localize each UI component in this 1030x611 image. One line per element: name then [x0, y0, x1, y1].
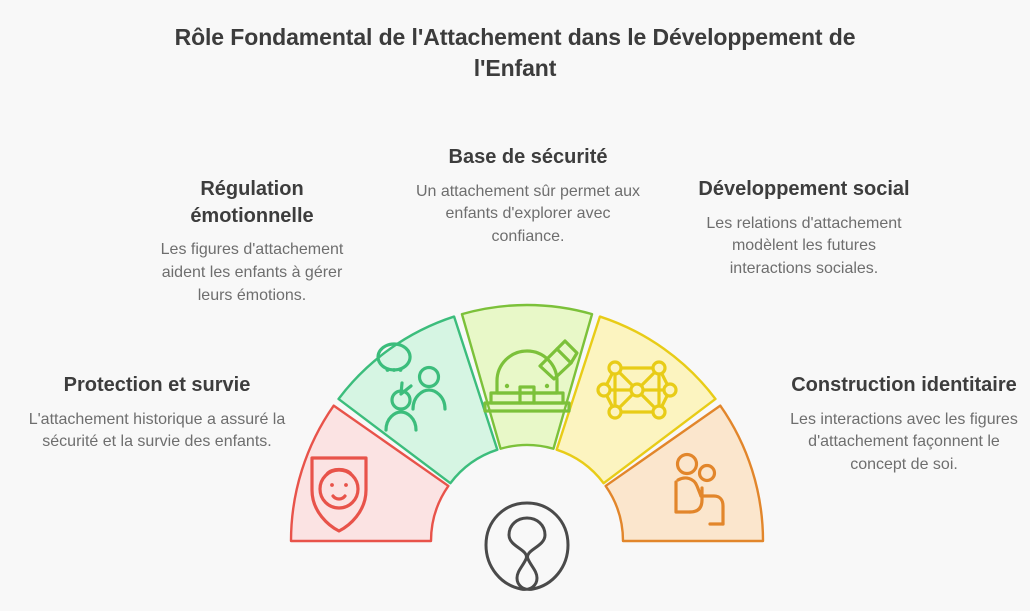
- omega-logo-icon: [486, 503, 568, 589]
- node-social-title: Développement social: [690, 176, 918, 203]
- node-social-description: Les relations d'attachement modèlent les…: [690, 213, 918, 281]
- node-protection-title: Protection et survie: [28, 372, 286, 399]
- infographic-canvas: Rôle Fondamental de l'Attachement dans l…: [0, 0, 1030, 611]
- node-identity-description: Les interactions avec les figures d'atta…: [780, 409, 1028, 477]
- page-title: Rôle Fondamental de l'Attachement dans l…: [145, 22, 885, 83]
- node-base-securite-description: Un attachement sûr permet aux enfants d'…: [408, 181, 648, 249]
- node-identity: Construction identitaire Les interaction…: [780, 372, 1028, 477]
- node-protection-description: L'attachement historique a assuré la séc…: [28, 409, 286, 454]
- node-social: Développement social Les relations d'att…: [690, 176, 918, 281]
- node-base-securite-title: Base de sécurité: [408, 144, 648, 171]
- node-regulation: Régulation émotionnelle Les figures d'at…: [146, 176, 358, 307]
- node-protection: Protection et survie L'attachement histo…: [28, 372, 286, 454]
- node-base-securite: Base de sécurité Un attachement sûr perm…: [408, 144, 648, 249]
- node-regulation-title: Régulation émotionnelle: [146, 176, 358, 229]
- node-regulation-description: Les figures d'attachement aident les enf…: [146, 239, 358, 307]
- node-identity-title: Construction identitaire: [780, 372, 1028, 399]
